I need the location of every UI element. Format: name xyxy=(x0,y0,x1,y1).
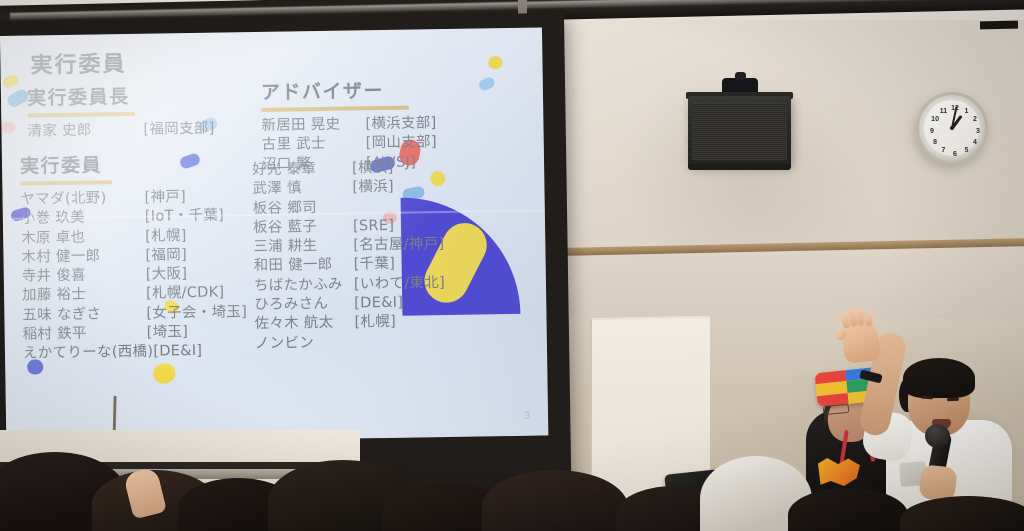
section-members-left: 実行委員 ヤマダ(北野)[神戸]小巻 玖美[IoT・千葉]木原 卓也[札幌]木村… xyxy=(20,148,248,364)
personB-raised-hand xyxy=(841,320,881,364)
member-name: 和田 健一郎 xyxy=(254,256,354,277)
member-tag: [札幌/CDK] xyxy=(146,284,225,305)
member-name: 寺井 俊喜 xyxy=(22,266,146,287)
member-tag: [横浜支部] xyxy=(365,114,436,134)
member-name: 古里 武士 xyxy=(262,135,366,156)
member-tag: [IoT・千葉] xyxy=(145,207,225,228)
confetti-yellow-tiny-top xyxy=(488,56,502,69)
slide-title: 実行委員 xyxy=(30,46,127,80)
member-tag: [神戸] xyxy=(144,188,186,208)
member-name: 清家 史郎 xyxy=(27,121,143,142)
wall-speaker xyxy=(688,96,791,166)
section-members-left-rows: ヤマダ(北野)[神戸]小巻 玖美[IoT・千葉]木原 卓也[札幌]木村 健一郎[… xyxy=(20,187,247,364)
speaker-grille xyxy=(692,103,787,161)
section-chair-rows: 清家 史郎[福岡支部] xyxy=(27,120,214,142)
member-name: ヤマダ(北野) xyxy=(20,189,144,210)
member-name: 木村 健一郎 xyxy=(21,247,145,268)
projection-screen: 実行委員 実行委員長 清家 史郎[福岡支部] 実行委員 ヤマダ(北野)[神戸]小… xyxy=(0,27,548,443)
member-row: ちばたかふみ[いわて/東北] xyxy=(254,274,445,296)
clock-number: 7 xyxy=(938,147,950,154)
clock-number: 9 xyxy=(926,128,938,135)
member-name: ちばたかふみ xyxy=(254,275,354,296)
member-tag: [福岡支部] xyxy=(143,120,214,140)
member-row: ノンビン xyxy=(255,332,446,354)
clock-number: 4 xyxy=(969,139,981,146)
personB-eye-right xyxy=(947,398,959,401)
section-members-rule xyxy=(20,180,112,185)
presentation-slide: 実行委員 実行委員長 清家 史郎[福岡支部] 実行委員 ヤマダ(北野)[神戸]小… xyxy=(0,27,548,443)
lower-wall-band xyxy=(556,246,1024,326)
member-tag: [DE&I] xyxy=(354,294,403,314)
member-row: えかてりーな(西橋)[DE&I] xyxy=(23,341,248,364)
member-row: 三浦 耕生[名古屋/神戸] xyxy=(253,235,444,257)
member-tag: [SRE] xyxy=(353,217,395,237)
member-name: えかてりーな(西橋) xyxy=(23,343,154,364)
section-chair: 実行委員長 清家 史郎[福岡支部] xyxy=(27,81,215,142)
member-tag: [DE&I] xyxy=(153,342,202,362)
member-name: ノンビン xyxy=(255,333,355,354)
member-name: 板谷 藍子 xyxy=(253,217,353,238)
section-members-right: 好光 泰章[横浜]武澤 慎[横浜]板谷 郷司板谷 藍子[SRE]三浦 耕生[名古… xyxy=(252,153,446,354)
clock-number: 8 xyxy=(929,139,941,146)
confetti-yellow-mid xyxy=(152,362,177,386)
clock-center-pin xyxy=(950,126,954,130)
member-tag: [札幌] xyxy=(354,313,396,333)
clock-number: 2 xyxy=(969,116,981,123)
slide-page-number: 3 xyxy=(524,410,530,422)
member-name: 木原 卓也 xyxy=(21,227,145,248)
section-members-right-rows: 好光 泰章[横浜]武澤 慎[横浜]板谷 郷司板谷 藍子[SRE]三浦 耕生[名古… xyxy=(252,158,446,354)
roller-end-cap xyxy=(980,21,1018,30)
finger-4 xyxy=(865,312,873,326)
member-tag: [横浜] xyxy=(352,159,394,179)
section-members-heading: 実行委員 xyxy=(20,150,102,180)
confetti-yellow-blob xyxy=(1,73,20,89)
member-tag: [女子会・埼玉] xyxy=(146,303,247,324)
member-row: 五味 なぎさ[女子会・埼玉] xyxy=(22,303,247,326)
member-name: 三浦 耕生 xyxy=(253,237,353,258)
member-tag: [大阪] xyxy=(146,265,188,285)
member-name: 武澤 慎 xyxy=(252,179,352,200)
clock-number: 6 xyxy=(949,151,961,158)
speaker-base xyxy=(688,164,791,170)
member-name: 佐々木 航太 xyxy=(254,314,354,335)
member-name: 好光 泰章 xyxy=(252,159,352,180)
clock-face: 121234567891011 xyxy=(924,100,980,156)
wall-clock: 121234567891011 xyxy=(916,92,988,164)
clock-number: 1 xyxy=(961,108,973,115)
finger-3 xyxy=(857,308,865,326)
member-tag: [名古屋/神戸] xyxy=(353,235,444,256)
member-name: 加藤 裕士 xyxy=(22,285,146,306)
confetti-pink-blob xyxy=(1,121,17,134)
section-chair-rule xyxy=(27,112,135,118)
clock-number: 11 xyxy=(938,108,950,115)
member-tag: [埼玉] xyxy=(147,323,189,343)
member-tag: [福岡] xyxy=(145,246,187,266)
section-chair-heading: 実行委員長 xyxy=(27,82,130,113)
member-row: 清家 史郎[福岡支部] xyxy=(27,120,214,142)
section-advisors-heading: アドバイザー xyxy=(261,76,384,107)
member-tag: [札幌] xyxy=(145,227,187,247)
member-name: 新居田 晃史 xyxy=(261,115,365,136)
clock-number: 5 xyxy=(961,147,973,154)
clock-number: 12 xyxy=(949,105,961,112)
member-name: 五味 なぎさ xyxy=(22,304,146,325)
personB-hair xyxy=(903,358,975,398)
member-name: 板谷 郷司 xyxy=(253,198,353,219)
member-row: 小巻 玖美[IoT・千葉] xyxy=(21,206,246,229)
member-name: 小巻 玖美 xyxy=(21,208,145,229)
member-tag: [いわて/東北] xyxy=(354,274,445,295)
member-tag: [千葉] xyxy=(353,255,395,275)
roller-mount xyxy=(518,0,527,14)
clock-number: 3 xyxy=(972,128,984,135)
member-name: ひろみさん xyxy=(254,294,354,315)
clock-number: 10 xyxy=(929,116,941,123)
member-name: 稲村 鉄平 xyxy=(23,324,147,345)
member-tag: [横浜] xyxy=(352,178,394,198)
confetti-lightblue-tiny xyxy=(477,76,496,93)
room-scene: 121234567891011 実行委員 実行委員長 清家 史郎[福岡支部] 実… xyxy=(0,0,1024,531)
member-tag: [岡山支部] xyxy=(366,133,437,153)
